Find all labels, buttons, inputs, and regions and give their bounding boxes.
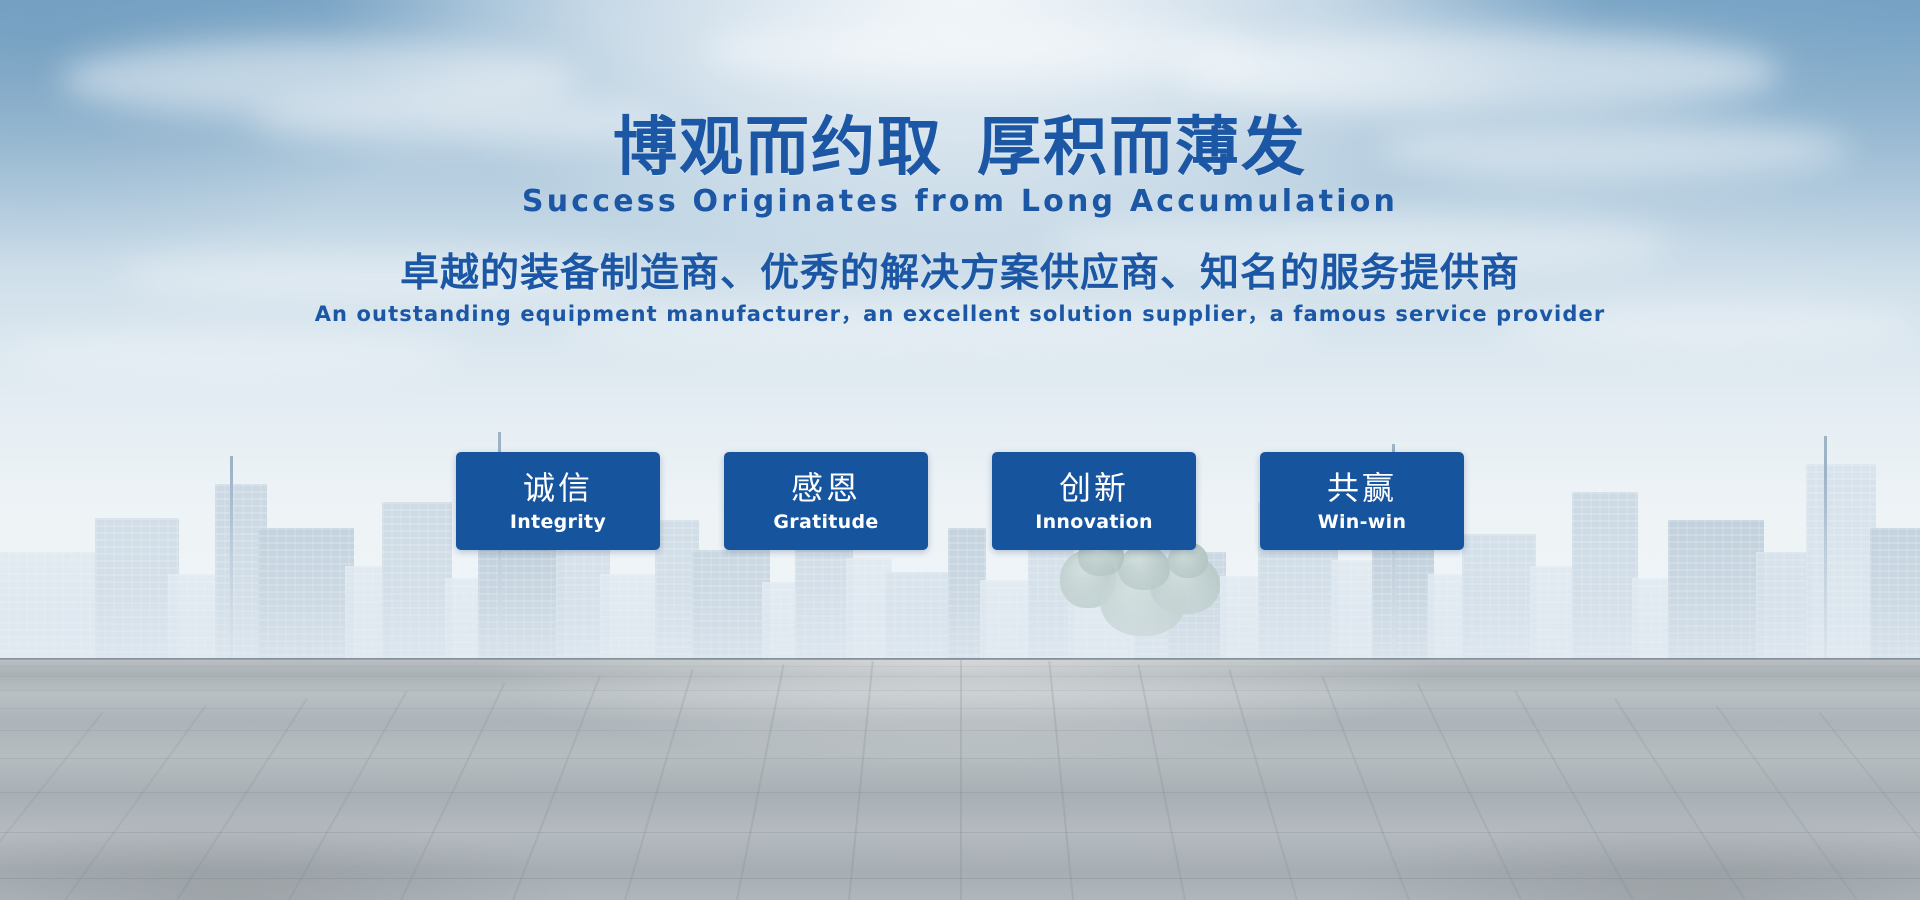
subtitle-chinese: 卓越的装备制造商、优秀的解决方案供应商、知名的服务提供商 xyxy=(0,250,1920,298)
value-card-label-en: Integrity xyxy=(510,510,606,534)
value-card-gratitude[interactable]: 感恩Gratitude xyxy=(724,452,928,550)
value-card-list: 诚信Integrity感恩Gratitude创新Innovation共赢Win-… xyxy=(0,452,1920,550)
value-card-label-cn: 感恩 xyxy=(791,469,861,507)
subtitle-english: An outstanding equipment manufacturer，an… xyxy=(0,300,1920,328)
value-card-win-win[interactable]: 共赢Win-win xyxy=(1260,452,1464,550)
hero-banner: 博观而约取厚积而薄发 Success Originates from Long … xyxy=(0,0,1920,900)
banner-content: 博观而约取厚积而薄发 Success Originates from Long … xyxy=(0,0,1920,900)
value-card-innovation[interactable]: 创新Innovation xyxy=(992,452,1196,550)
value-card-label-cn: 创新 xyxy=(1059,469,1129,507)
value-card-label-cn: 诚信 xyxy=(523,469,593,507)
headline-english: Success Originates from Long Accumulatio… xyxy=(0,184,1920,220)
value-card-label-cn: 共赢 xyxy=(1327,469,1397,507)
value-card-label-en: Win-win xyxy=(1318,510,1407,534)
headline-chinese-part1: 博观而约取 xyxy=(613,111,943,185)
value-card-label-en: Gratitude xyxy=(773,510,878,534)
value-card-integrity[interactable]: 诚信Integrity xyxy=(456,452,660,550)
headline-chinese-part2: 厚积而薄发 xyxy=(977,111,1307,185)
headline-chinese: 博观而约取厚积而薄发 xyxy=(0,112,1920,184)
value-card-label-en: Innovation xyxy=(1035,510,1153,534)
